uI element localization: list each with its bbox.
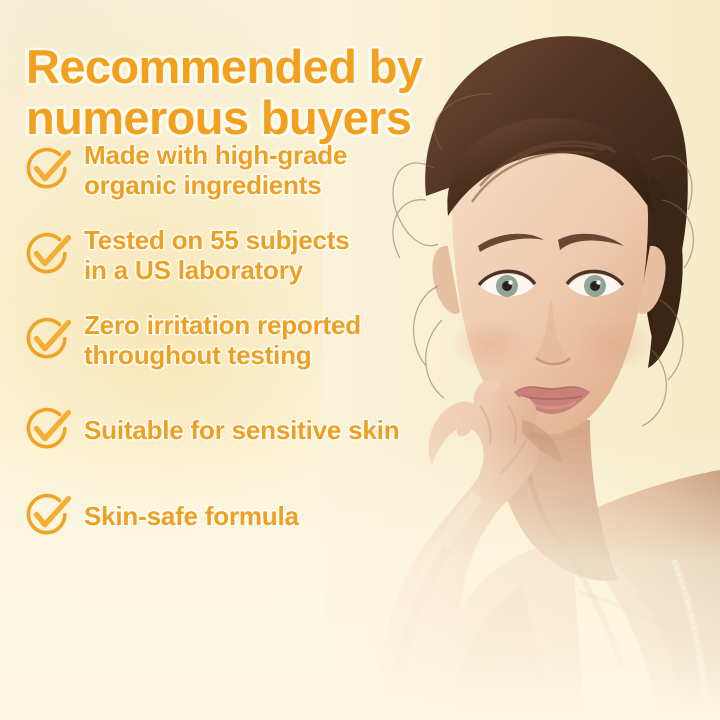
list-item: Tested on 55 subjects in a US laboratory (18, 225, 350, 285)
list-item: Made with high-grade organic ingredients (18, 140, 347, 200)
list-item: Suitable for sensitive skin (18, 402, 399, 458)
promo-poster: Recommended by numerous buyers Made with… (0, 0, 720, 720)
list-item-label: Suitable for sensitive skin (84, 415, 399, 445)
check-circle-icon (18, 312, 74, 368)
list-item-label: Skin-safe formula (84, 501, 299, 531)
page-title: Recommended by numerous buyers (26, 41, 496, 143)
list-item-label: Zero irritation reported throughout test… (84, 310, 361, 370)
check-circle-icon (18, 142, 74, 198)
list-item: Skin-safe formula (18, 488, 299, 544)
check-circle-icon (18, 488, 74, 544)
list-item-label: Made with high-grade organic ingredients (84, 140, 347, 200)
list-item: Zero irritation reported throughout test… (18, 310, 361, 370)
list-item-label: Tested on 55 subjects in a US laboratory (84, 225, 350, 285)
check-circle-icon (18, 227, 74, 283)
check-circle-icon (18, 402, 74, 458)
background-bottom-fade (0, 430, 720, 720)
